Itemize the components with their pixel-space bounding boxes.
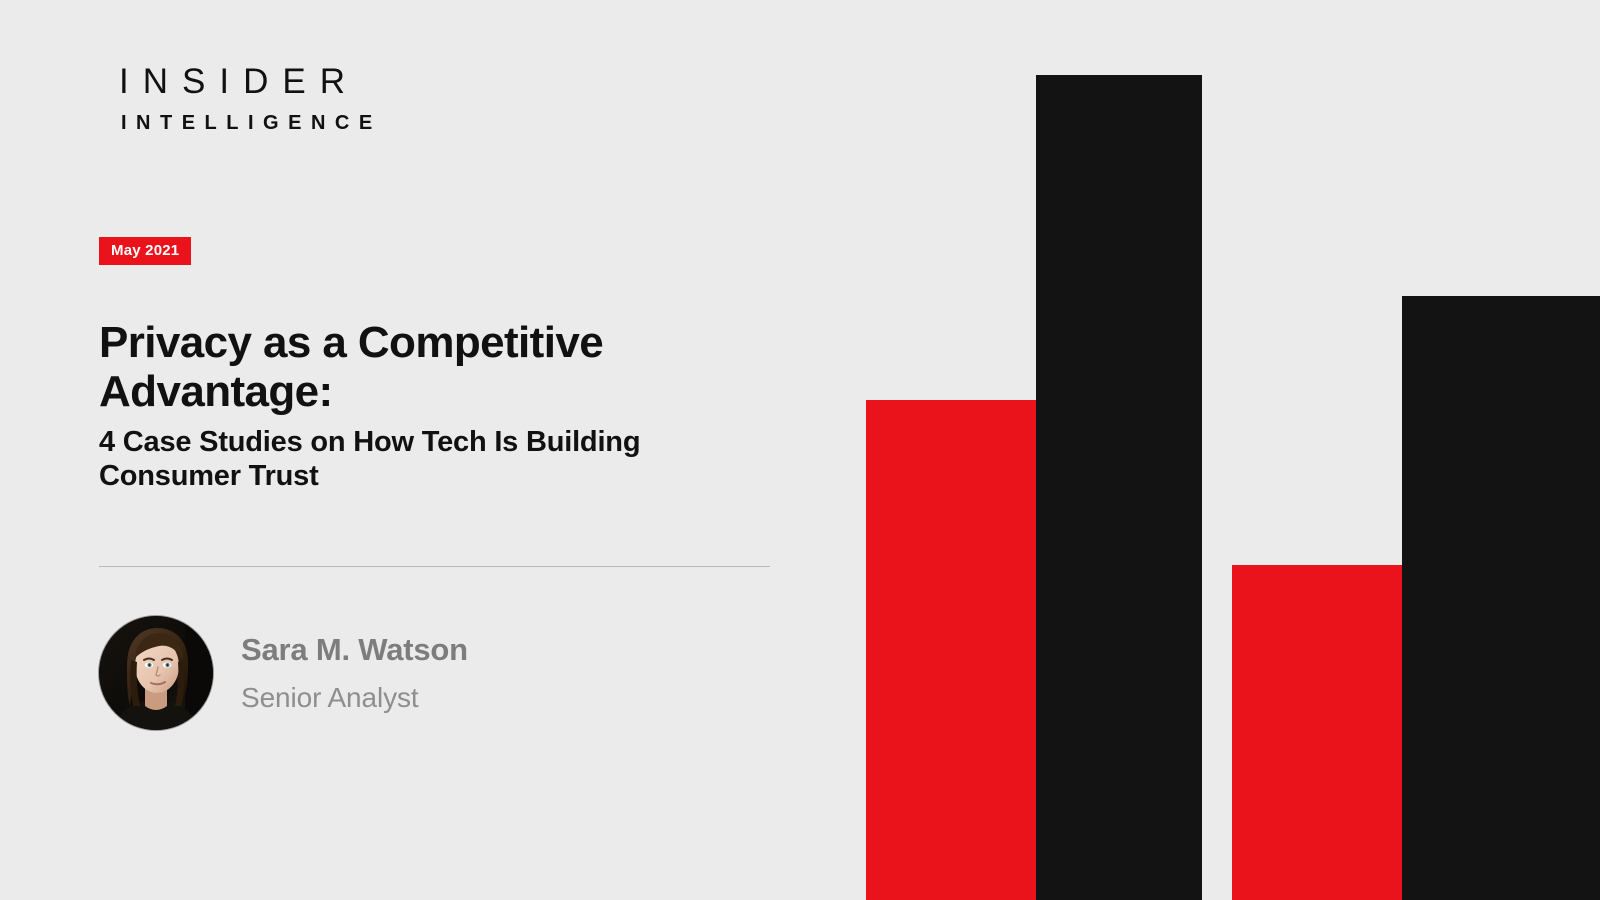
chart-bar-red-2 (1232, 565, 1402, 900)
date-badge: May 2021 (99, 237, 191, 265)
logo-word-insider: INSIDER (119, 64, 382, 101)
author-name: Sara M. Watson (241, 631, 468, 668)
divider (99, 566, 770, 567)
brand-logo: INSIDER INTELLIGENCE (119, 64, 382, 134)
author-block: Sara M. Watson Senior Analyst (99, 616, 468, 730)
cover-content-column: INSIDER INTELLIGENCE May 2021 Privacy as… (99, 0, 799, 900)
title-block: Privacy as a Competitive Advantage: 4 Ca… (99, 318, 779, 494)
chart-bar-black-1 (1036, 75, 1202, 900)
avatar-portrait-image (99, 616, 213, 730)
report-cover-slide: INSIDER INTELLIGENCE May 2021 Privacy as… (0, 0, 1600, 900)
chart-bar-red-1 (866, 400, 1036, 900)
page-subtitle: 4 Case Studies on How Tech Is Building C… (99, 425, 779, 495)
logo-word-intelligence: INTELLIGENCE (121, 113, 382, 134)
author-role: Senior Analyst (241, 681, 468, 715)
page-title: Privacy as a Competitive Advantage: (99, 318, 779, 417)
avatar (99, 616, 213, 730)
chart-bar-black-2 (1402, 296, 1600, 900)
author-text: Sara M. Watson Senior Analyst (241, 631, 468, 715)
